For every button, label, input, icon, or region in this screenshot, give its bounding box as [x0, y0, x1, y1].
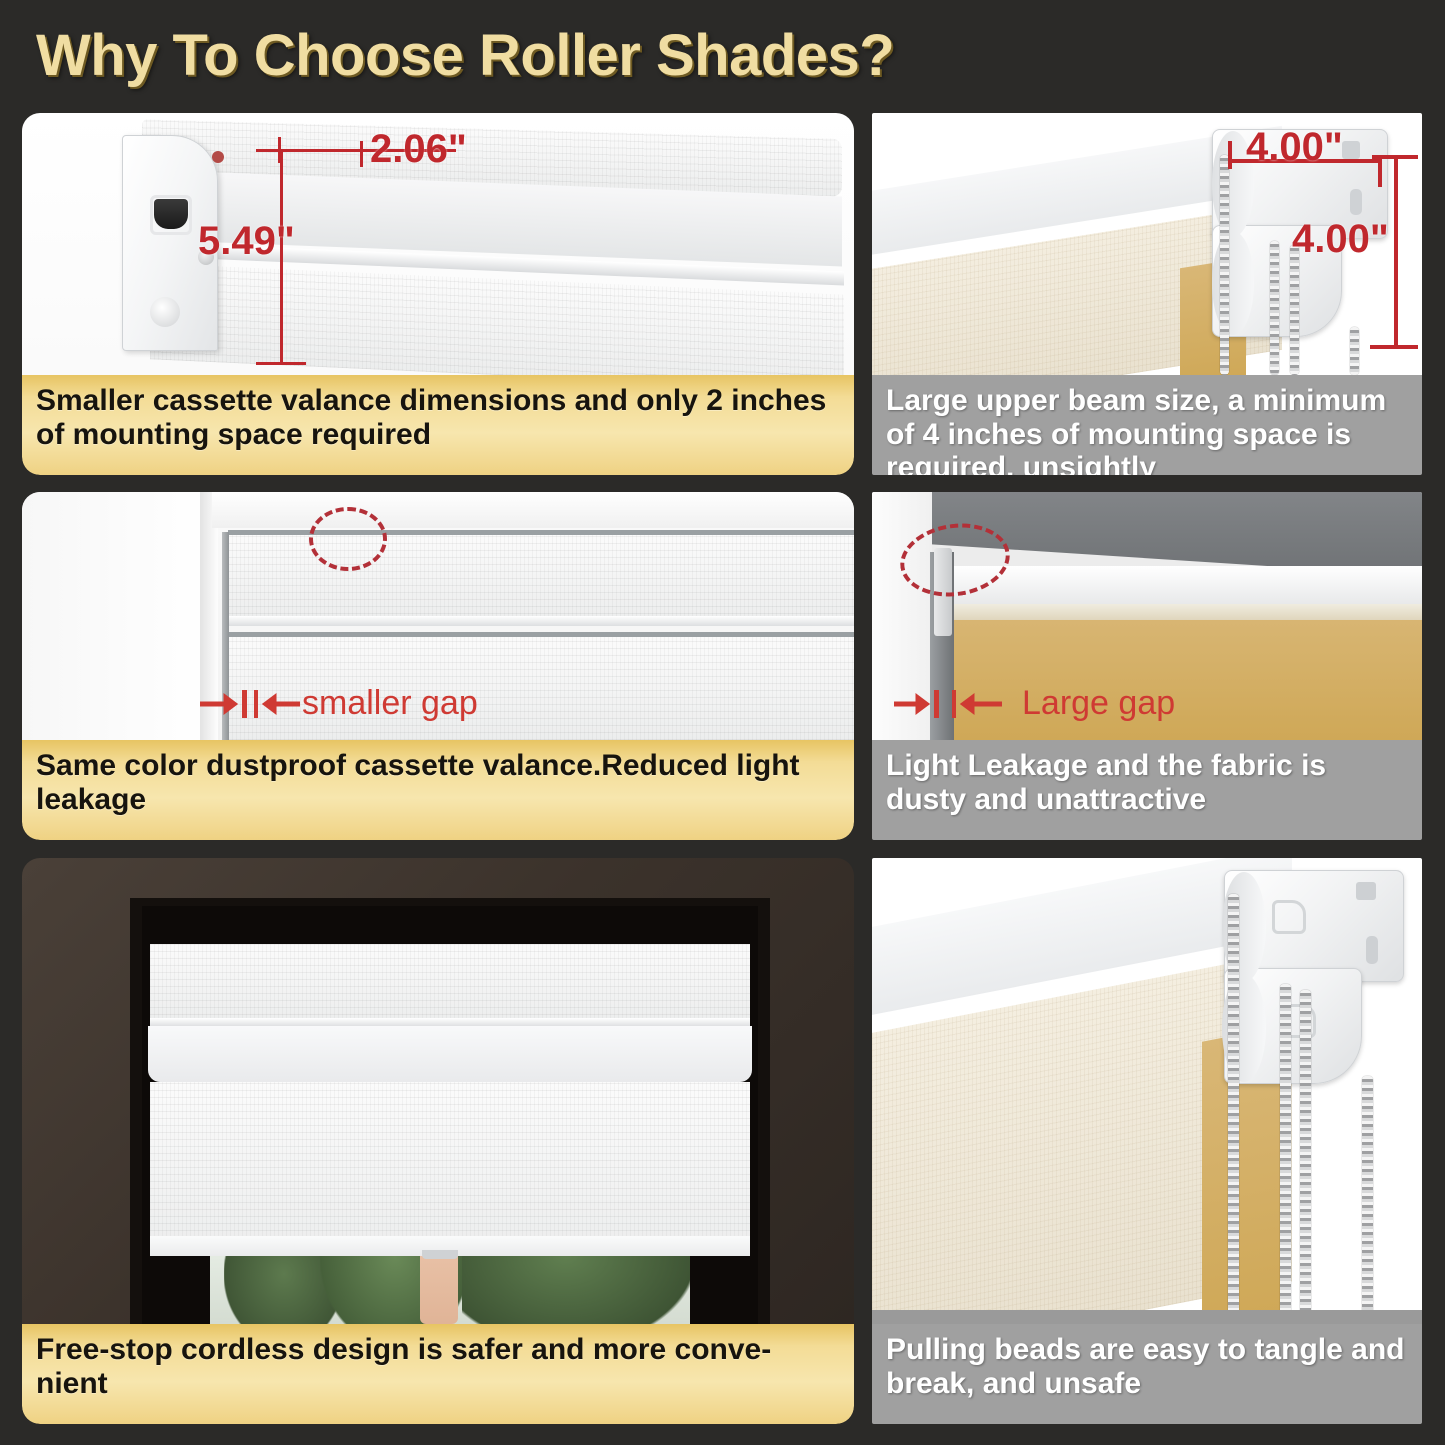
gap-highlight-ellipse	[309, 507, 387, 571]
beads-bracket-notch-b	[1366, 936, 1378, 964]
caption-cordless-design: Free-stop cordless design is safer and m…	[22, 1324, 854, 1424]
beam-height-tick-top	[1372, 155, 1418, 159]
bracket-roller-end-lower	[1212, 231, 1254, 335]
title-bar: Why To Choose Roller Shades?	[0, 0, 1445, 108]
caption-cassette-valance-dimensions: Smaller cassette valance dimensions and …	[22, 375, 854, 475]
caption-text: Free-stop cordless design is safer and m…	[36, 1333, 840, 1400]
panel-large-upper-beam: 4.00" 4.00" Large upper beam size, a min…	[872, 113, 1422, 475]
bracket-slot-ring	[150, 195, 192, 235]
caption-light-leakage: Light Leakage and the fabric is dusty an…	[872, 740, 1422, 840]
smaller-gap-arrows	[200, 688, 320, 720]
beam-width-tick-left	[1228, 141, 1232, 169]
bracket-marker-dot	[212, 151, 224, 163]
roller-tube	[942, 566, 1422, 606]
beam-width-label: 4.00"	[1246, 125, 1343, 170]
caption-large-upper-beam: Large upper beam size, a minimum of 4 in…	[872, 375, 1422, 475]
beam-height-label: 4.00"	[1292, 217, 1389, 262]
large-beam-photo: 4.00" 4.00"	[872, 113, 1422, 375]
height-dimension-tick-top	[256, 149, 306, 152]
cordless-valance	[150, 944, 750, 1022]
beads-bracket-emblem-upper	[1272, 900, 1306, 934]
cassette-valance-lip	[228, 616, 854, 626]
cordless-shade-fabric	[150, 1082, 750, 1252]
caption-text: Pulling beads are easy to tangle and bre…	[886, 1333, 1408, 1400]
smaller-gap-label: smaller gap	[302, 684, 478, 723]
bead-chain-4	[1350, 327, 1359, 375]
cordless-design-photo	[22, 858, 854, 1324]
bracket-notch-b	[1350, 189, 1362, 215]
panel-dustproof-cassette: smaller gap Same color dustproof cassett…	[22, 492, 854, 840]
cassette-valance-photo: 2.06" 5.49"	[22, 113, 854, 375]
bracket-screw-lower	[150, 297, 180, 327]
height-dimension-tick-bottom	[256, 362, 306, 365]
caption-text: Smaller cassette valance dimensions and …	[36, 384, 840, 451]
bead-chain-c	[1300, 990, 1311, 1324]
page-title: Why To Choose Roller Shades?	[36, 22, 894, 89]
leaky-fabric-top-edge	[952, 604, 1422, 620]
beam-height-tick-bottom	[1370, 345, 1418, 349]
panel-pulling-beads: Pulling beads are easy to tangle and bre…	[872, 858, 1422, 1424]
bead-chain-a	[1228, 894, 1239, 1324]
panel-cordless-design: Free-stop cordless design is safer and m…	[22, 858, 854, 1424]
large-gap-arrows	[894, 688, 1022, 720]
bead-chain-d	[1362, 1076, 1373, 1324]
beads-floor-strip	[872, 1310, 1422, 1324]
caption-text: Large upper beam size, a minimum of 4 in…	[886, 384, 1408, 475]
caption-pulling-beads: Pulling beads are easy to tangle and bre…	[872, 1324, 1422, 1424]
width-dimension-tick-right	[360, 141, 363, 167]
bead-chain-2	[1270, 241, 1279, 375]
beads-bracket-notch-a	[1356, 882, 1376, 900]
beam-width-tick-right	[1378, 159, 1382, 187]
dustproof-cassette-photo: smaller gap	[22, 492, 854, 740]
infographic-page: Why To Choose Roller Shades? 2.06"	[0, 0, 1445, 1445]
window-frame-left	[22, 492, 212, 740]
bead-chain-1	[1220, 155, 1229, 375]
bracket-notch-a	[1342, 141, 1360, 159]
caption-dustproof-cassette: Same color dustproof cassette valance.Re…	[22, 740, 854, 840]
panel-light-leakage: Large gap Light Leakage and the fabric i…	[872, 492, 1422, 840]
caption-text: Light Leakage and the fabric is dusty an…	[886, 749, 1408, 816]
caption-text: Same color dustproof cassette valance.Re…	[36, 749, 840, 816]
cordless-pull-tab	[422, 1250, 458, 1259]
width-dimension-label: 2.06"	[370, 127, 467, 172]
light-leakage-photo: Large gap	[872, 492, 1422, 740]
bead-chain-3	[1290, 245, 1299, 375]
window-frame-top	[212, 492, 854, 528]
large-gap-label: Large gap	[1022, 684, 1175, 723]
beam-height-line	[1394, 155, 1398, 349]
pulling-beads-photo	[872, 858, 1422, 1324]
panel-cassette-valance-dimensions: 2.06" 5.49" Smaller cassette valance dim…	[22, 113, 854, 475]
bead-chain-b	[1280, 984, 1291, 1324]
cordless-roller-housing	[148, 1026, 752, 1082]
height-dimension-label: 5.49"	[198, 219, 295, 264]
